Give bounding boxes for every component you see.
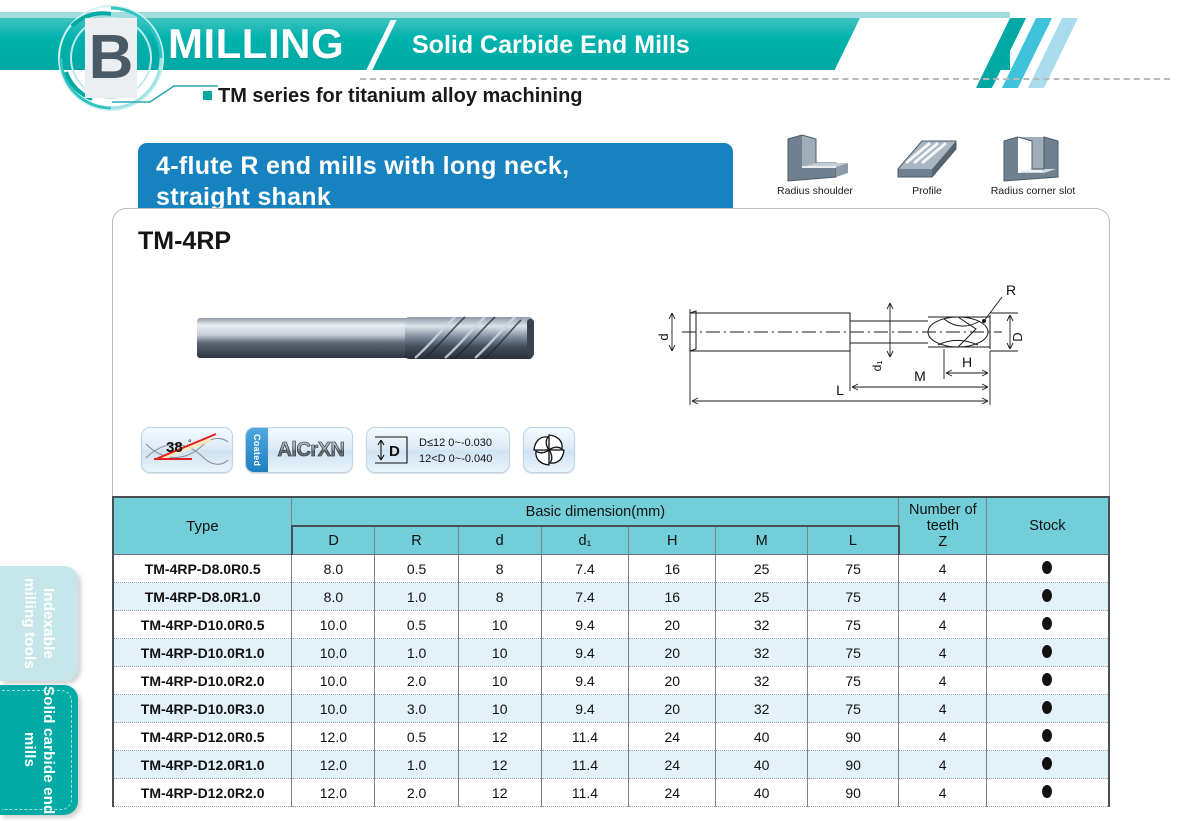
cell-R: 1.0: [375, 639, 458, 667]
cell-H: 16: [629, 555, 716, 583]
cell-Z: 4: [899, 779, 986, 807]
cell-L: 75: [807, 639, 899, 667]
tolerance-badge: D D≤12 0~-0.030 12<D 0~-0.040: [366, 427, 510, 473]
cell-stock: [986, 695, 1109, 723]
stock-dot-icon: [1042, 785, 1052, 798]
cell-L: 75: [807, 583, 899, 611]
col-R: R: [375, 526, 458, 554]
stock-dot-icon: [1042, 757, 1052, 770]
col-D: D: [292, 526, 375, 554]
cell-D: 12.0: [292, 723, 375, 751]
coating-tab: Coated: [246, 428, 268, 472]
cell-D: 8.0: [292, 555, 375, 583]
svg-text:M: M: [914, 368, 926, 384]
cell-M: 32: [716, 611, 807, 639]
side-tab-solid-carbide-end-mills[interactable]: Solid carbide end mills: [0, 685, 78, 815]
specifications-table-wrap: Type Basic dimension(mm) Number of teeth…: [112, 496, 1110, 807]
cell-M: 25: [716, 555, 807, 583]
cell-H: 16: [629, 583, 716, 611]
cell-D: 10.0: [292, 639, 375, 667]
cell-d: 8: [458, 555, 541, 583]
product-photo: [191, 304, 541, 374]
helix-angle-icon: 38 °: [142, 428, 232, 472]
cell-D: 12.0: [292, 751, 375, 779]
product-title-banner: 4-flute R end mills with long neck, stra…: [138, 143, 733, 211]
side-tabs: Indexable milling tools Solid carbide en…: [0, 566, 86, 821]
cell-d1: 11.4: [541, 779, 628, 807]
table-row: TM-4RP-D12.0R0.512.00.51211.42440904: [113, 723, 1109, 751]
svg-text:D: D: [389, 443, 400, 460]
cell-H: 20: [629, 667, 716, 695]
cell-Z: 4: [899, 723, 986, 751]
cell-Z: 4: [899, 639, 986, 667]
category-title: MILLING: [168, 22, 344, 66]
diameter-tolerance-icon: D: [367, 428, 417, 472]
page-header: MILLING Solid Carbide End Mills B TM ser…: [0, 0, 1188, 120]
cell-L: 75: [807, 667, 899, 695]
cell-M: 32: [716, 695, 807, 723]
table-row: TM-4RP-D10.0R3.010.03.0109.42032754: [113, 695, 1109, 723]
svg-text:D: D: [1010, 332, 1025, 341]
cell-stock: [986, 779, 1109, 807]
cell-type: TM-4RP-D10.0R3.0: [113, 695, 292, 723]
cell-type: TM-4RP-D10.0R2.0: [113, 667, 292, 695]
cell-type: TM-4RP-D10.0R1.0: [113, 639, 292, 667]
cell-stock: [986, 639, 1109, 667]
cell-L: 90: [807, 751, 899, 779]
cell-d: 12: [458, 723, 541, 751]
cell-D: 10.0: [292, 611, 375, 639]
cell-d1: 11.4: [541, 723, 628, 751]
stock-dot-icon: [1042, 673, 1052, 686]
coating-tab-label: Coated: [252, 434, 262, 466]
side-tab-label: Indexable milling tools: [20, 566, 58, 681]
coating-badge: Coated AlCrXN: [245, 427, 353, 473]
cell-d1: 11.4: [541, 751, 628, 779]
four-flute-end-view-icon: [524, 428, 574, 472]
cell-L: 75: [807, 611, 899, 639]
cell-type: TM-4RP-D10.0R0.5: [113, 611, 292, 639]
cell-R: 0.5: [375, 723, 458, 751]
cell-stock: [986, 751, 1109, 779]
header-subtitle: Solid Carbide End Mills: [412, 30, 690, 60]
col-d: d: [458, 526, 541, 554]
cell-Z: 4: [899, 751, 986, 779]
cell-stock: [986, 583, 1109, 611]
series-bullet: [203, 91, 212, 100]
cell-M: 25: [716, 583, 807, 611]
cell-H: 24: [629, 723, 716, 751]
cell-R: 2.0: [375, 779, 458, 807]
product-code: TM-4RP: [138, 227, 231, 255]
cell-d1: 9.4: [541, 611, 628, 639]
table-row: TM-4RP-D8.0R0.58.00.587.41625754: [113, 555, 1109, 583]
col-type: Type: [113, 497, 292, 555]
application-radius-shoulder: Radius shoulder: [760, 132, 870, 198]
cell-d: 12: [458, 751, 541, 779]
product-card: TM-4RP: [112, 208, 1110, 498]
table-row: TM-4RP-D10.0R0.510.00.5109.42032754: [113, 611, 1109, 639]
cell-d: 10: [458, 667, 541, 695]
application-label: Radius shoulder: [760, 185, 870, 198]
cell-H: 24: [629, 779, 716, 807]
cell-stock: [986, 611, 1109, 639]
cell-M: 40: [716, 779, 807, 807]
col-teeth-line2: teeth: [902, 518, 984, 534]
side-tab-indexable-milling-tools[interactable]: Indexable milling tools: [0, 566, 78, 681]
cell-R: 0.5: [375, 611, 458, 639]
helix-angle-badge: 38 °: [141, 427, 233, 473]
application-profile: Profile: [872, 132, 982, 198]
cell-L: 90: [807, 779, 899, 807]
cell-stock: [986, 555, 1109, 583]
cell-R: 2.0: [375, 667, 458, 695]
svg-text:H: H: [962, 354, 972, 370]
cell-Z: 4: [899, 695, 986, 723]
cell-Z: 4: [899, 583, 986, 611]
cell-H: 20: [629, 611, 716, 639]
cell-type: TM-4RP-D12.0R1.0: [113, 751, 292, 779]
cell-H: 20: [629, 639, 716, 667]
cell-type: TM-4RP-D8.0R1.0: [113, 583, 292, 611]
cell-type: TM-4RP-D12.0R2.0: [113, 779, 292, 807]
cell-stock: [986, 723, 1109, 751]
col-stock: Stock: [986, 497, 1109, 555]
cell-R: 0.5: [375, 555, 458, 583]
cell-Z: 4: [899, 555, 986, 583]
col-teeth-line1: Number of: [902, 502, 984, 518]
cell-R: 1.0: [375, 583, 458, 611]
cell-d: 10: [458, 611, 541, 639]
spec-badges: 38 ° Coated AlCrXN D D≤12 0~-0.030 12<D …: [141, 427, 571, 483]
svg-text:d₁: d₁: [870, 361, 884, 372]
cell-D: 12.0: [292, 779, 375, 807]
table-row: TM-4RP-D8.0R1.08.01.087.41625754: [113, 583, 1109, 611]
cell-D: 10.0: [292, 695, 375, 723]
col-d1: d₁: [541, 526, 628, 554]
tolerance-values: D≤12 0~-0.030 12<D 0~-0.040: [419, 435, 492, 467]
table-header-row-1: Type Basic dimension(mm) Number of teeth…: [113, 497, 1109, 526]
cell-Z: 4: [899, 667, 986, 695]
cell-R: 1.0: [375, 751, 458, 779]
cell-d1: 9.4: [541, 695, 628, 723]
cell-d: 10: [458, 639, 541, 667]
col-teeth: Number of teeth Z: [899, 497, 986, 555]
technical-drawing: d d₁ D R H M: [658, 269, 1078, 409]
cell-d: 10: [458, 695, 541, 723]
cell-d1: 9.4: [541, 667, 628, 695]
side-tab-label: Solid carbide end mills: [20, 685, 58, 815]
cell-stock: [986, 667, 1109, 695]
radius-shoulder-icon: [760, 132, 870, 184]
series-connector-line: [110, 78, 230, 104]
specifications-table: Type Basic dimension(mm) Number of teeth…: [112, 496, 1110, 807]
cell-M: 32: [716, 639, 807, 667]
coating-name: AlCrXN: [270, 428, 352, 472]
col-basic-dimension: Basic dimension(mm): [292, 497, 899, 526]
col-teeth-line3: Z: [902, 534, 984, 550]
cell-d1: 7.4: [541, 555, 628, 583]
flute-count-badge: [523, 427, 575, 473]
svg-text:L: L: [836, 382, 844, 398]
cell-H: 20: [629, 695, 716, 723]
application-label: Profile: [872, 185, 982, 198]
cell-L: 90: [807, 723, 899, 751]
series-note: TM series for titanium alloy machining: [218, 84, 583, 108]
table-row: TM-4RP-D10.0R1.010.01.0109.42032754: [113, 639, 1109, 667]
tolerance-line-1: D≤12 0~-0.030: [419, 435, 492, 451]
stock-dot-icon: [1042, 701, 1052, 714]
cell-L: 75: [807, 695, 899, 723]
table-row: TM-4RP-D12.0R2.012.02.01211.42440904: [113, 779, 1109, 807]
cell-R: 3.0: [375, 695, 458, 723]
table-body: TM-4RP-D8.0R0.58.00.587.41625754TM-4RP-D…: [113, 555, 1109, 807]
stock-dot-icon: [1042, 561, 1052, 574]
stock-dot-icon: [1042, 645, 1052, 658]
stock-dot-icon: [1042, 589, 1052, 602]
cell-D: 10.0: [292, 667, 375, 695]
cell-type: TM-4RP-D12.0R0.5: [113, 723, 292, 751]
cell-type: TM-4RP-D8.0R0.5: [113, 555, 292, 583]
col-M: M: [716, 526, 807, 554]
svg-text:38: 38: [166, 439, 183, 456]
cell-Z: 4: [899, 611, 986, 639]
application-radius-corner-slot: Radius corner slot: [978, 132, 1088, 198]
cell-d1: 9.4: [541, 639, 628, 667]
table-row: TM-4RP-D12.0R1.012.01.01211.42440904: [113, 751, 1109, 779]
cell-M: 40: [716, 751, 807, 779]
table-row: TM-4RP-D10.0R2.010.02.0109.42032754: [113, 667, 1109, 695]
stock-dot-icon: [1042, 617, 1052, 630]
col-L: L: [807, 526, 899, 554]
header-dashed-rule: [360, 78, 1170, 80]
cell-d: 8: [458, 583, 541, 611]
cell-L: 75: [807, 555, 899, 583]
stock-dot-icon: [1042, 729, 1052, 742]
application-icons: Radius shoulder Profile: [760, 132, 1090, 212]
cell-D: 8.0: [292, 583, 375, 611]
cell-d1: 7.4: [541, 583, 628, 611]
cell-d: 12: [458, 779, 541, 807]
cell-H: 24: [629, 751, 716, 779]
svg-text:d: d: [658, 333, 671, 340]
product-title-line1: 4-flute R end mills with long neck,: [156, 151, 733, 182]
svg-text:°: °: [188, 438, 192, 448]
cell-M: 32: [716, 667, 807, 695]
cell-M: 40: [716, 723, 807, 751]
radius-corner-slot-icon: [978, 132, 1088, 184]
svg-text:R: R: [1006, 282, 1016, 298]
application-label: Radius corner slot: [978, 185, 1088, 198]
tolerance-line-2: 12<D 0~-0.040: [419, 451, 492, 467]
profile-icon: [872, 132, 982, 184]
col-H: H: [629, 526, 716, 554]
